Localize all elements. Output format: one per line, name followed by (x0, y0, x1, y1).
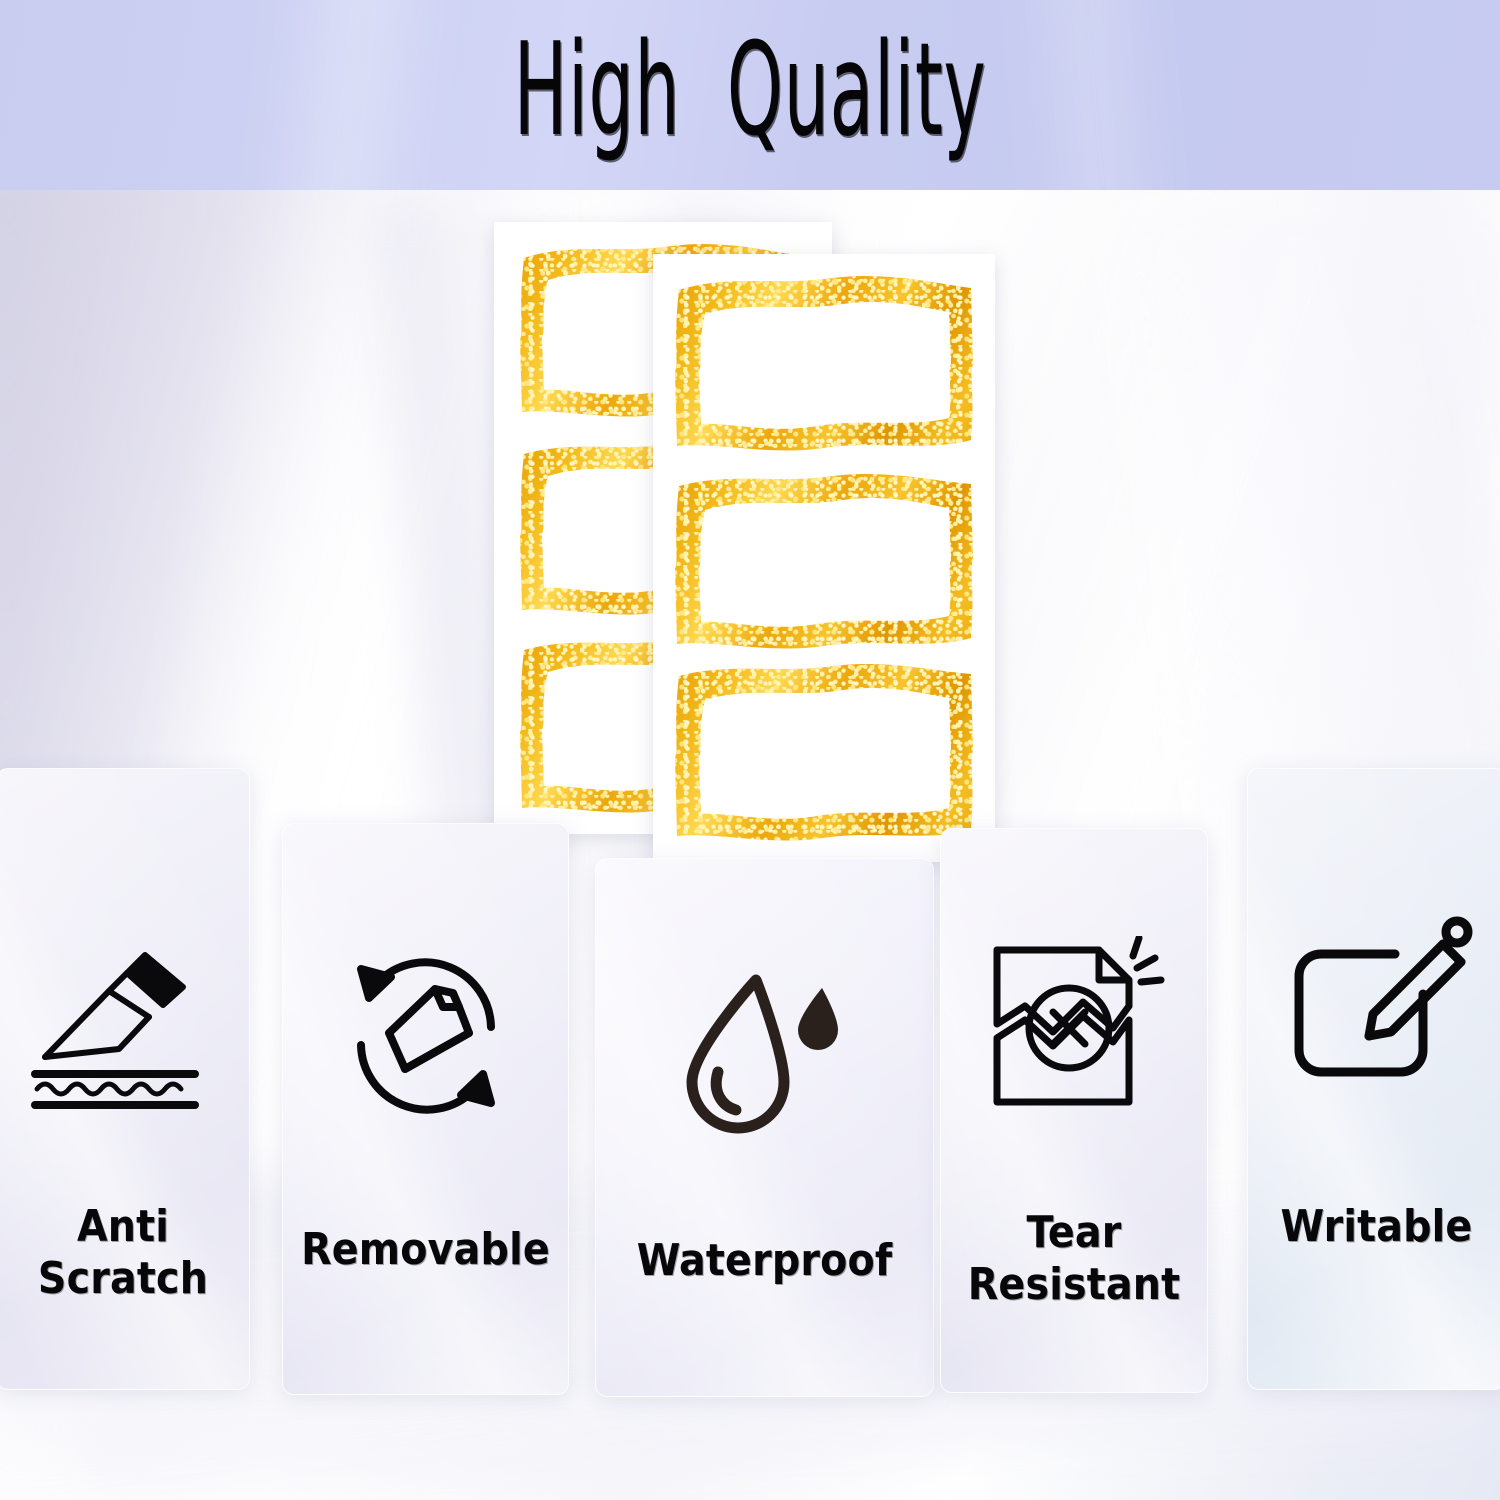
water-droplet-icon (596, 959, 933, 1149)
label-item (667, 466, 981, 658)
label-item (667, 268, 981, 460)
feature-label-waterproof: Waterproof (596, 1235, 933, 1287)
feature-card-waterproof[interactable]: Waterproof (595, 858, 934, 1397)
label-sheet-front (653, 254, 995, 862)
recycle-arrows-label-icon (283, 936, 568, 1136)
feature-label-anti-scratch: Anti Scratch (0, 1201, 249, 1305)
feature-label-removable: Removable (283, 1224, 568, 1276)
feature-card-tear-resistant[interactable]: Tear Resistant (940, 828, 1208, 1393)
feature-card-removable[interactable]: Removable (282, 823, 569, 1395)
page-title: High Quality (285, 24, 1215, 158)
blade-scratch-icon (0, 919, 249, 1119)
pencil-square-icon (1248, 905, 1500, 1105)
torn-paper-cross-icon (941, 931, 1207, 1121)
header-banner: High Quality (0, 0, 1500, 190)
feature-label-writable: Writable (1248, 1201, 1500, 1253)
infographic-canvas: High Quality (0, 0, 1500, 1500)
feature-card-writable[interactable]: Writable (1247, 768, 1500, 1390)
feature-card-anti-scratch[interactable]: Anti Scratch (0, 768, 250, 1390)
feature-label-tear-resistant: Tear Resistant (941, 1207, 1207, 1311)
label-item (667, 654, 981, 850)
